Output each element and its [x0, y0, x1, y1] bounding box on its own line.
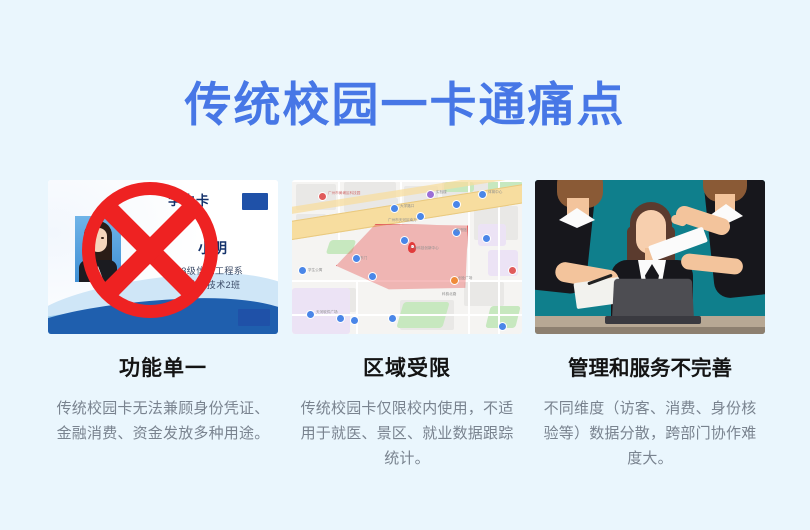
card-top-badge — [242, 193, 268, 210]
map-label: 广州市黄埔区科技园 — [328, 191, 360, 196]
map-label: 体育中心 — [488, 190, 502, 195]
map-poi-icon — [336, 314, 345, 323]
pain-point-card-row: 学生卡 小明 23级信息工程系 软件技术2班 — [0, 180, 810, 500]
map-label: 图书馆 — [456, 228, 467, 233]
map-label: 大学路口 — [400, 204, 414, 209]
map-road — [356, 280, 358, 334]
card-heading-management: 管理和服务不完善 — [535, 356, 765, 382]
map-poi-icon — [298, 266, 307, 275]
map-poi-icon — [350, 316, 359, 325]
pain-point-card-management: 管理和服务不完善 不同维度（访客、消费、身份核验等）数据分散，跨部门协作难度大。 — [535, 180, 765, 471]
student-card-illustration: 学生卡 小明 23级信息工程系 软件技术2班 — [48, 180, 278, 334]
student-card-thumbnail: 学生卡 小明 23级信息工程系 软件技术2班 — [48, 180, 278, 334]
map-poi-icon — [400, 236, 409, 245]
map-poi-icon — [508, 266, 517, 275]
map-label: 实验楼 — [436, 190, 447, 195]
card-body-region: 传统校园卡仅限校内使用，不适用于就医、景区、就业数据跟踪统计。 — [292, 396, 522, 471]
prohibition-x-icon — [82, 182, 218, 318]
map-poi-icon — [318, 192, 327, 201]
map-poi-icon — [498, 322, 507, 331]
map-label: 学生公寓 — [308, 268, 322, 273]
map-poi-icon — [368, 272, 377, 281]
map-label: 东门 — [360, 256, 367, 261]
laptop-base — [605, 316, 701, 324]
map-poi-icon — [452, 200, 461, 209]
campus-map-illustration: 广州市黄埔区科技园 大学路口 实验楼 体育中心 广州市天河区南方 广州科技创新中… — [292, 180, 522, 334]
map-poi-icon — [306, 310, 315, 319]
card-heading-function: 功能单一 — [48, 356, 278, 382]
map-label: 天河软件广场 — [316, 310, 338, 315]
map-poi-icon — [416, 212, 425, 221]
map-label: 创业广场 — [458, 276, 472, 281]
map-poi-icon — [478, 190, 487, 199]
map-label: 广州市天河区南方 — [388, 218, 417, 223]
desk-edge — [535, 327, 765, 334]
map-poi-icon — [390, 204, 399, 213]
map-label: 广州科技创新中心 — [410, 246, 439, 251]
map-poi-icon — [388, 314, 397, 323]
map-poi-icon — [426, 190, 435, 199]
office-illustration — [535, 180, 765, 334]
pain-point-card-region: 广州市黄埔区科技园 大学路口 实验楼 体育中心 广州市天河区南方 广州科技创新中… — [292, 180, 522, 471]
map-label: 科韵北路 — [442, 292, 456, 297]
map-poi-icon — [482, 234, 491, 243]
card-body-function: 传统校园卡无法兼顾身份凭证、金融消费、资金发放多种用途。 — [48, 396, 278, 446]
slide-root: 传统校园一卡通痛点 学生卡 — [0, 0, 810, 530]
card-bottom-badge — [238, 309, 270, 326]
page-title: 传统校园一卡通痛点 — [0, 76, 810, 134]
card-body-management: 不同维度（访客、消费、身份核验等）数据分散，跨部门协作难度大。 — [535, 396, 765, 471]
pain-point-card-function: 学生卡 小明 23级信息工程系 软件技术2班 — [48, 180, 278, 446]
card-heading-region: 区域受限 — [292, 356, 522, 382]
office-thumbnail — [535, 180, 765, 334]
map-thumbnail: 广州市黄埔区科技园 大学路口 实验楼 体育中心 广州市天河区南方 广州科技创新中… — [292, 180, 522, 334]
